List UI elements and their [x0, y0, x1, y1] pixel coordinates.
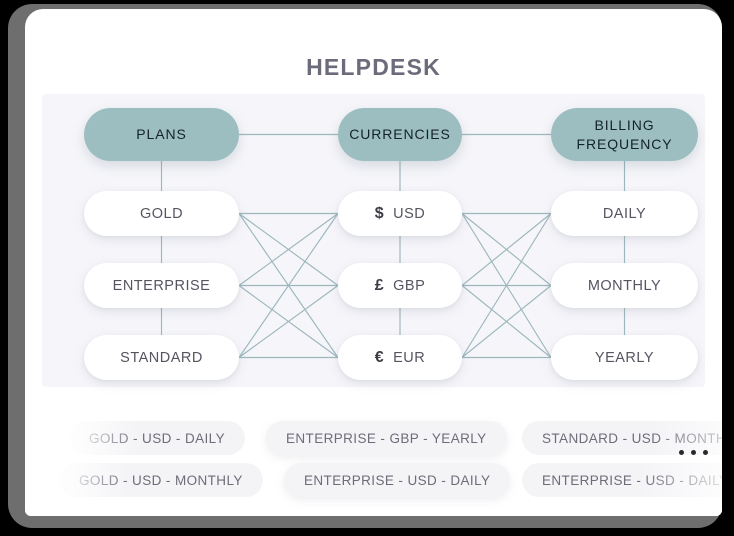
column-header-plans[interactable]: PLANS	[84, 108, 239, 161]
column-header-billing-frequency[interactable]: BILLING FREQUENCY	[551, 108, 698, 161]
combination-chip[interactable]: ENTERPRISE - GBP - YEARLY	[266, 421, 507, 455]
ellipsis-dot	[703, 450, 708, 455]
page-title: HELPDESK	[25, 54, 722, 81]
column-header-currencies-label: CURRENCIES	[349, 125, 451, 144]
node-frequency-yearly-label: YEARLY	[595, 350, 654, 366]
node-frequency-monthly[interactable]: MONTHLY	[551, 263, 698, 308]
node-frequency-monthly-label: MONTHLY	[588, 278, 661, 294]
node-frequency-daily[interactable]: DAILY	[551, 191, 698, 236]
node-plan-enterprise-label: ENTERPRISE	[113, 278, 211, 294]
screenshot-root: HELPDESK	[0, 0, 734, 536]
combination-chip[interactable]: GOLD - USD - MONTHLY	[59, 463, 263, 497]
device-frame: HELPDESK	[8, 4, 722, 528]
column-header-plans-label: PLANS	[136, 125, 186, 144]
dollar-sign-icon: $	[375, 205, 384, 223]
node-plan-gold-label: GOLD	[140, 206, 183, 222]
node-plan-gold[interactable]: GOLD	[84, 191, 239, 236]
combination-chip[interactable]: ENTERPRISE - USD - DAILY	[522, 463, 722, 497]
combination-chip[interactable]: GOLD - USD - DAILY	[69, 421, 245, 455]
node-plan-standard[interactable]: STANDARD	[84, 335, 239, 380]
column-header-billing-frequency-line1: BILLING	[595, 117, 655, 133]
combination-chip[interactable]: ENTERPRISE - USD - DAILY	[284, 463, 510, 497]
diagram-panel: PLANS GOLD ENTERPRISE STANDARD CURRENCIE…	[42, 94, 705, 387]
node-currency-eur-label: EUR	[393, 350, 425, 366]
ellipsis-dot	[679, 450, 684, 455]
column-header-currencies[interactable]: CURRENCIES	[338, 108, 462, 161]
node-currency-usd[interactable]: $ USD	[338, 191, 462, 236]
node-plan-enterprise[interactable]: ENTERPRISE	[84, 263, 239, 308]
combination-chip-label: ENTERPRISE - USD - DAILY	[542, 473, 722, 488]
pound-sign-icon: £	[375, 277, 384, 295]
combination-chip-label: ENTERPRISE - GBP - YEARLY	[286, 431, 487, 446]
combination-chip-label: ENTERPRISE - USD - DAILY	[304, 473, 490, 488]
node-currency-eur[interactable]: € EUR	[338, 335, 462, 380]
combination-chip-label: STANDARD - USD - MONTHLY	[542, 431, 722, 446]
ellipsis-dot	[691, 450, 696, 455]
diagram-canvas: PLANS GOLD ENTERPRISE STANDARD CURRENCIE…	[42, 94, 705, 387]
combinations-list[interactable]: GOLD - USD - DAILY ENTERPRISE - GBP - YE…	[25, 389, 722, 516]
node-frequency-daily-label: DAILY	[603, 206, 646, 222]
euro-sign-icon: €	[375, 349, 384, 367]
combination-chip-label: GOLD - USD - DAILY	[89, 431, 225, 446]
overflow-ellipsis-icon[interactable]	[679, 450, 708, 455]
node-frequency-yearly[interactable]: YEARLY	[551, 335, 698, 380]
combination-chip-label: GOLD - USD - MONTHLY	[79, 473, 243, 488]
column-header-billing-frequency-line2: FREQUENCY	[577, 136, 673, 152]
node-currency-gbp[interactable]: £ GBP	[338, 263, 462, 308]
node-currency-usd-label: USD	[393, 206, 425, 222]
node-plan-standard-label: STANDARD	[120, 350, 203, 366]
app-card: HELPDESK	[25, 9, 722, 516]
node-currency-gbp-label: GBP	[393, 278, 425, 294]
